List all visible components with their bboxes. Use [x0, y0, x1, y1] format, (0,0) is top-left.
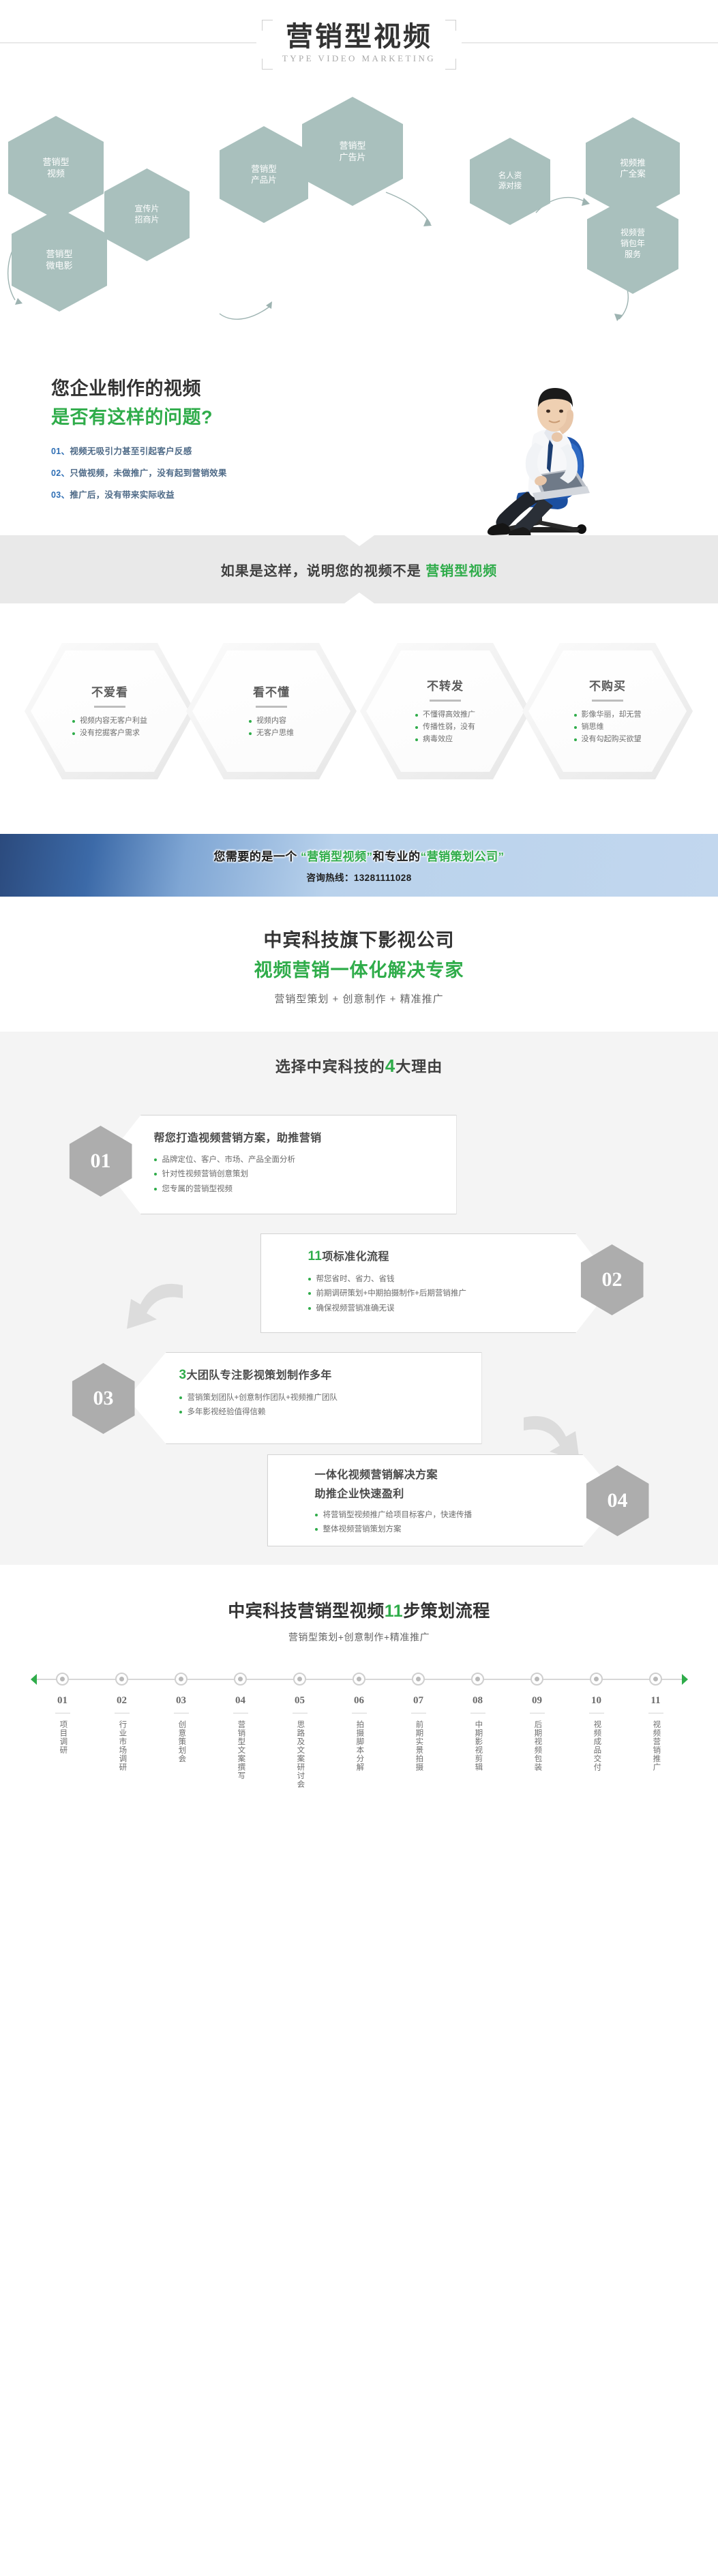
timeline-step-number: 10 — [591, 1695, 601, 1707]
timeline-step-05[interactable]: 05 思路及文案研讨会 — [279, 1673, 321, 1788]
service-hex-7[interactable]: 视频营销包年服务 — [587, 194, 678, 294]
problem-item-number: 03、 — [51, 490, 70, 500]
reason-card-bullet: 前期调研策划+中期拍摄制作+后期营销推广 — [308, 1287, 563, 1301]
timeline-step-divider — [530, 1713, 545, 1713]
reason-card-bullet: 多年影视经验值得信赖 — [179, 1405, 462, 1420]
spacer — [0, 793, 718, 834]
hex-card-divider — [592, 700, 623, 702]
timeline-step-label: 拍摄脚本分解 — [353, 1720, 365, 1771]
steps-heading-number: 11 — [385, 1602, 403, 1621]
timeline-step-09[interactable]: 09 后期视频包装 — [516, 1673, 558, 1788]
hex-card-bullet: 没有挖掘客户需求 — [72, 728, 147, 740]
hex-card-bullet: 没有勾起购买欲望 — [574, 734, 642, 746]
timeline-items: 01 项目调研 02 行业市场调研 03 创意策划会 — [32, 1673, 687, 1788]
reason-card-content: 11项标准化流程 帮您省时、省力、省钱 前期调研策划+中期拍摄制作+后期营销推广… — [260, 1233, 615, 1331]
timeline-step-divider — [648, 1713, 663, 1713]
cta-text-a: 您需要的是一个 — [213, 850, 301, 863]
reasons-heading-number: 4 — [385, 1055, 395, 1076]
reason-card-title-text: 项标准化流程 — [322, 1251, 389, 1263]
reason-card-bullet: 针对性视频营销创意策划 — [154, 1167, 436, 1182]
timeline-dot-icon — [293, 1673, 306, 1686]
timeline-step-label: 营销型文案撰写 — [235, 1720, 247, 1780]
timeline-step-label: 视频营销推广 — [650, 1720, 662, 1771]
service-hex-map: 营销型视频 宣传片招商片 营销型产品片 营销型广告片 名人资源对接 视频推广全案… — [0, 89, 718, 355]
hex-card-title: 不爱看 — [91, 683, 128, 700]
service-hex-4[interactable]: 名人资源对接 — [470, 138, 550, 225]
problem-item-number: 02、 — [51, 468, 70, 478]
company-services: 营销型策划 + 创意制作 + 精准推广 — [0, 991, 718, 1006]
masthead-title-frame: 营销型视频 TYPE VIDEO MARKETING — [256, 18, 462, 71]
gray-banner-text: 如果是这样，说明您的视频不是 营销型视频 — [221, 560, 498, 580]
gray-banner-prefix: 如果是这样，说明您的视频不是 — [221, 564, 426, 579]
reason-card-title-text: 大团队专注影视策划制作多年 — [186, 1370, 331, 1381]
reason-number-badge-03: 03 — [72, 1363, 135, 1434]
service-hex-0[interactable]: 营销型视频 — [8, 116, 104, 220]
timeline-step-divider — [352, 1713, 367, 1713]
problem-item-text: 推广后，没有带来实际收益 — [70, 490, 175, 500]
timeline-step-11[interactable]: 11 视频营销推广 — [635, 1673, 677, 1788]
hex-card-body: 看不懂 视频内容 无客户思维 — [186, 643, 357, 779]
hex-card-bullet: 传播性弱，没有 — [415, 721, 475, 734]
hex-card-bullets: 视频内容无客户利益 没有挖掘客户需求 — [72, 715, 147, 740]
timeline-step-number: 09 — [532, 1695, 542, 1707]
hex-card-bullet: 影像华丽，却无营 — [574, 709, 642, 721]
reason-card-bullet: 整体视频营销策划方案 — [315, 1523, 570, 1537]
hex-card-bullets: 不懂得高效推广 传播性弱，没有 病毒效应 — [415, 709, 475, 745]
cta-quote-video: “营销型视频” — [301, 850, 373, 863]
hex-card-body: 不购买 影像华丽，却无营 销思维 没有勾起购买欲望 — [522, 643, 693, 779]
timeline-step-divider — [55, 1713, 70, 1713]
hex-card-body: 不转发 不懂得高效推广 传播性弱，没有 病毒效应 — [360, 643, 530, 779]
problem-hex-row: 不爱看 视频内容无客户利益 没有挖掘客户需求 看不懂 视频内容 无客户思维 — [0, 643, 718, 793]
service-hex-6[interactable]: 营销型微电影 — [12, 208, 107, 312]
banner-notch-top-icon — [344, 535, 374, 546]
reason-card-title: 3大团队专注影视策划制作多年 — [179, 1366, 462, 1383]
hex-card-bullet: 不懂得高效推广 — [415, 709, 475, 721]
gray-statement-banner: 如果是这样，说明您的视频不是 营销型视频 — [0, 535, 718, 603]
timeline-step-04[interactable]: 04 营销型文案撰写 — [220, 1673, 262, 1788]
timeline-dot-icon — [471, 1673, 484, 1686]
hex-card-divider — [256, 706, 287, 708]
timeline-step-label: 视频成品交付 — [590, 1720, 603, 1771]
hex-card-title: 看不懂 — [253, 683, 290, 700]
problem-item-text: 只做视频，未做推广，没有起到营销效果 — [70, 468, 226, 478]
timeline-step-label: 思路及文案研讨会 — [294, 1720, 306, 1788]
problem-section: 您企业制作的视频 是否有这样的问题? 01、视频无吸引力甚至引起客户反感 02、… — [0, 355, 718, 535]
timeline-step-08[interactable]: 08 中期影视剪辑 — [457, 1673, 499, 1788]
timeline-step-number: 08 — [473, 1695, 483, 1707]
reasons-heading-a: 选择中宾科技的 — [275, 1058, 385, 1075]
reason-card-bullets: 营销策划团队+创意制作团队+视频推广团队 多年影视经验值得信赖 — [179, 1391, 462, 1420]
timeline-step-number: 01 — [57, 1695, 68, 1707]
businessman-on-chair-photo — [453, 372, 658, 535]
problem-hex-card-2[interactable]: 不转发 不懂得高效推广 传播性弱，没有 病毒效应 — [360, 643, 530, 779]
hex-card-bullets: 视频内容 无客户思维 — [249, 715, 294, 740]
problem-list: 01、视频无吸引力甚至引起客户反感 02、只做视频，未做推广，没有起到营销效果 … — [51, 444, 227, 500]
reason-card-content: 一体化视频营销解决方案 助推企业快速盈利 将营销型视频推广给项目标客户，快速传播… — [267, 1454, 622, 1553]
corner-bracket-bottom-left-icon — [262, 59, 273, 70]
timeline-step-number: 11 — [650, 1695, 660, 1707]
hex-card-bullet: 视频内容无客户利益 — [72, 715, 147, 728]
page-masthead: 营销型视频 TYPE VIDEO MARKETING — [0, 0, 718, 89]
landing-page: 营销型视频 TYPE VIDEO MARKETING 营销 — [0, 0, 718, 1816]
problem-item-text: 视频无吸引力甚至引起客户反感 — [70, 447, 192, 456]
reason-card-title: 帮您打造视频营销方案，助推营销 — [154, 1128, 436, 1145]
problem-heading-line1: 您企业制作的视频 — [51, 374, 227, 400]
corner-bracket-bottom-right-icon — [445, 59, 456, 70]
timeline-dot-icon — [353, 1673, 365, 1686]
timeline-step-label: 项目调研 — [57, 1720, 69, 1754]
timeline-end-arrow-icon — [682, 1674, 688, 1685]
timeline-step-label: 前期实景拍摄 — [413, 1720, 425, 1771]
timeline-step-label: 创意策划会 — [175, 1720, 188, 1763]
timeline-step-divider — [174, 1713, 189, 1713]
reason-card-bullets: 将营销型视频推广给项目标客户，快速传播 整体视频营销策划方案 — [315, 1508, 570, 1538]
cta-text-c: 和专业的 — [373, 850, 421, 863]
timeline-dot-icon — [412, 1673, 425, 1686]
reason-card-bullet: 帮您省时、省力、省钱 — [308, 1272, 563, 1287]
hex-card-bullets: 影像华丽，却无营 销思维 没有勾起购买欲望 — [574, 709, 642, 745]
hex-card-bullet-cont: 销思维 — [574, 721, 642, 734]
reason-card-title: 一体化视频营销解决方案 — [315, 1465, 570, 1482]
cta-quote-company: “营销策划公司” — [421, 850, 505, 863]
service-hex-2[interactable]: 营销型产品片 — [220, 126, 308, 223]
steps-subtitle: 营销型策划+创意制作+精准推广 — [0, 1630, 718, 1644]
timeline-step-label: 中期影视剪辑 — [472, 1720, 484, 1771]
service-hex-1[interactable]: 宣传片招商片 — [104, 168, 190, 261]
reason-card-bullet: 将营销型视频推广给项目标客户，快速传播 — [315, 1508, 570, 1523]
reason-card-title-number: 3 — [179, 1368, 187, 1382]
timeline-dot-icon — [115, 1673, 128, 1686]
timeline-start-arrow-icon — [31, 1674, 37, 1685]
timeline-step-number: 06 — [354, 1695, 364, 1707]
reason-card-bullet: 您专属的营销型视频 — [154, 1182, 436, 1197]
hex-card-divider — [94, 706, 125, 708]
timeline-step-number: 07 — [413, 1695, 423, 1707]
service-hex-3[interactable]: 营销型广告片 — [302, 97, 403, 206]
company-name: 中宾科技旗下影视公司 — [0, 925, 718, 952]
timeline-step-label: 后期视频包装 — [531, 1720, 543, 1771]
timeline-step-03[interactable]: 03 创意策划会 — [160, 1673, 203, 1788]
company-tagline: 视频营销一体化解决专家 — [0, 955, 718, 982]
reason-card-title-line2: 助推企业快速盈利 — [315, 1484, 570, 1501]
timeline-step-02[interactable]: 02 行业市场调研 — [101, 1673, 143, 1788]
cta-hotline[interactable]: 咨询热线：13281111028 — [306, 870, 411, 884]
timeline-step-divider — [411, 1713, 426, 1713]
timeline-step-divider — [293, 1713, 308, 1713]
timeline-dot-icon — [649, 1673, 662, 1686]
reason-card-title: 11项标准化流程 — [308, 1247, 563, 1264]
cta-headline: 您需要的是一个 “营销型视频”和专业的“营销策划公司” — [213, 847, 504, 864]
reason-card-bullets: 帮您省时、省力、省钱 前期调研策划+中期拍摄制作+后期营销推广 确保视频营销准确… — [308, 1272, 563, 1316]
reason-card-title-number: 11 — [308, 1249, 323, 1263]
timeline-dot-icon — [56, 1673, 69, 1686]
cta-banner: 您需要的是一个 “营销型视频”和专业的“营销策划公司” 咨询热线：1328111… — [0, 834, 718, 897]
hex-card-bullet: 视频内容 — [249, 715, 294, 728]
corner-bracket-top-left-icon — [262, 20, 273, 31]
timeline-step-07[interactable]: 07 前期实景拍摄 — [398, 1673, 440, 1788]
timeline-step-06[interactable]: 06 拍摄脚本分解 — [338, 1673, 380, 1788]
reason-card-02[interactable]: 11项标准化流程 帮您省时、省力、省钱 前期调研策划+中期拍摄制作+后期营销推广… — [260, 1233, 615, 1333]
timeline-step-01[interactable]: 01 项目调研 — [42, 1673, 84, 1788]
steps-heading-a: 中宾科技营销型视频 — [228, 1602, 385, 1621]
timeline-step-divider — [470, 1713, 485, 1713]
hex-card-divider — [430, 700, 461, 702]
problem-hex-card-1[interactable]: 看不懂 视频内容 无客户思维 — [186, 643, 357, 779]
timeline-dot-icon — [175, 1673, 188, 1686]
steps-heading-b: 步策划流程 — [403, 1602, 490, 1621]
hex-card-bullet-cont: 病毒效应 — [415, 734, 475, 746]
reason-card-bullets: 品牌定位、客户、市场、产品全面分析 针对性视频营销创意策划 您专属的营销型视频 — [154, 1153, 436, 1197]
hex-card-body: 不爱看 视频内容无客户利益 没有挖掘客户需求 — [25, 643, 195, 779]
problem-item: 03、推广后，没有带来实际收益 — [51, 488, 227, 500]
timeline-dot-icon — [590, 1673, 603, 1686]
timeline-step-number: 02 — [117, 1695, 127, 1707]
hex-card-title: 不转发 — [427, 676, 464, 693]
timeline-dot-icon — [234, 1673, 247, 1686]
page-title: 营销型视频 — [282, 23, 436, 51]
problem-item: 01、视频无吸引力甚至引起客户反感 — [51, 444, 227, 457]
timeline-step-number: 05 — [295, 1695, 305, 1707]
timeline-step-divider — [589, 1713, 604, 1713]
reason-card-bullet: 确保视频营销准确无误 — [308, 1302, 563, 1316]
page-subtitle-en: TYPE VIDEO MARKETING — [282, 53, 436, 64]
reasons-section: 选择中宾科技的4大理由 帮您打造视频营销方案，助推营销 品牌定位 — [0, 1032, 718, 1565]
hex-card-title: 不购买 — [589, 676, 626, 693]
gray-banner-highlight: 营销型视频 — [425, 564, 497, 579]
problem-hex-card-3[interactable]: 不购买 影像华丽，却无营 销思维 没有勾起购买欲望 — [522, 643, 693, 779]
reasons-heading-b: 大理由 — [395, 1058, 443, 1075]
reason-card-03[interactable]: 3大团队专注影视策划制作多年 营销策划团队+创意制作团队+视频推广团队 多年影视… — [128, 1352, 482, 1444]
banner-notch-bottom-icon — [344, 593, 374, 603]
steps-timeline: 01 项目调研 02 行业市场调研 03 创意策划会 — [32, 1673, 687, 1788]
flow-arrow-down-left-icon — [121, 1274, 187, 1333]
problem-text-block: 您企业制作的视频 是否有这样的问题? 01、视频无吸引力甚至引起客户反感 02、… — [51, 374, 227, 509]
problem-item: 02、只做视频，未做推广，没有起到营销效果 — [51, 466, 227, 479]
reason-card-04[interactable]: 一体化视频营销解决方案 助推企业快速盈利 将营销型视频推广给项目标客户，快速传播… — [267, 1454, 622, 1546]
hex-card-bullet: 无客户思维 — [249, 728, 294, 740]
timeline-step-number: 04 — [235, 1695, 245, 1707]
timeline-step-divider — [233, 1713, 248, 1713]
reason-card-01[interactable]: 帮您打造视频营销方案，助推营销 品牌定位、客户、市场、产品全面分析 针对性视频营… — [102, 1115, 457, 1214]
problem-heading-line2: 是否有这样的问题? — [51, 402, 227, 429]
problem-item-number: 01、 — [51, 447, 70, 456]
company-intro: 中宾科技旗下影视公司 视频营销一体化解决专家 营销型策划 + 创意制作 + 精准… — [0, 897, 718, 1032]
timeline-dot-icon — [530, 1673, 543, 1686]
reason-card-bullet: 品牌定位、客户、市场、产品全面分析 — [154, 1153, 436, 1167]
timeline-step-10[interactable]: 10 视频成品交付 — [575, 1673, 618, 1788]
timeline-step-divider — [115, 1713, 130, 1713]
steps-heading: 中宾科技营销型视频11步策划流程 — [0, 1598, 718, 1622]
problem-hex-card-0[interactable]: 不爱看 视频内容无客户利益 没有挖掘客户需求 — [25, 643, 195, 779]
reasons-heading: 选择中宾科技的4大理由 — [0, 1055, 718, 1077]
timeline-step-label: 行业市场调研 — [116, 1720, 128, 1771]
steps-section: 中宾科技营销型视频11步策划流程 营销型策划+创意制作+精准推广 01 项目调研… — [0, 1565, 718, 1816]
corner-bracket-top-right-icon — [445, 20, 456, 31]
reason-card-content: 帮您打造视频营销方案，助推营销 品牌定位、客户、市场、产品全面分析 针对性视频营… — [102, 1115, 457, 1212]
reason-cards-wrap: 帮您打造视频营销方案，助推营销 品牌定位、客户、市场、产品全面分析 针对性视频营… — [42, 1100, 676, 1529]
timeline-step-number: 03 — [176, 1695, 186, 1707]
reason-card-content: 3大团队专注影视策划制作多年 营销策划团队+创意制作团队+视频推广团队 多年影视… — [128, 1352, 482, 1435]
reason-card-bullet: 营销策划团队+创意制作团队+视频推广团队 — [179, 1391, 462, 1405]
